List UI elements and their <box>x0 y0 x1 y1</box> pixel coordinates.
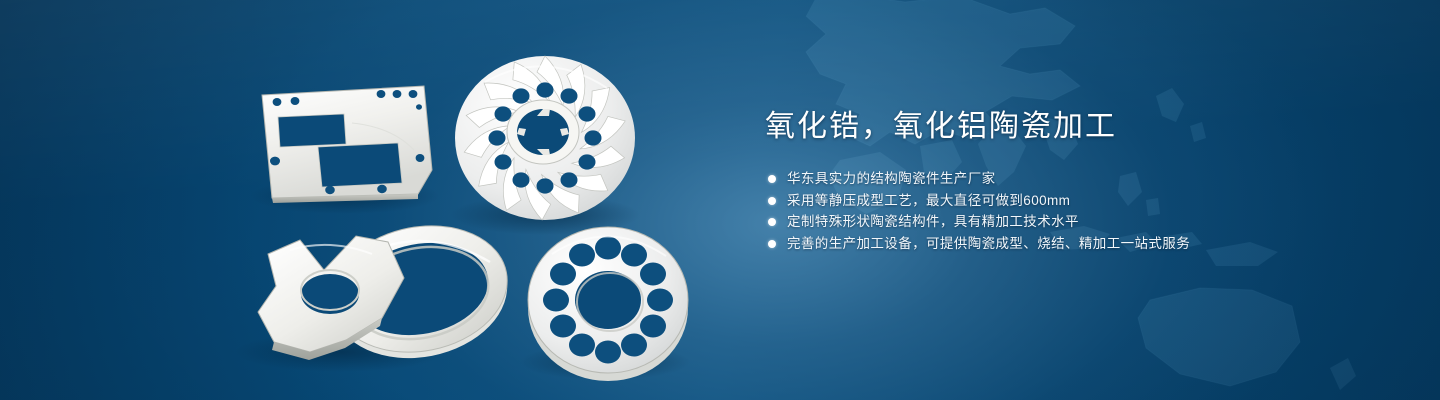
hero-banner: 氧化锆，氧化铝陶瓷加工 华东具实力的结构陶瓷件生产厂家 采用等静压成型工艺，最大… <box>0 0 1440 400</box>
list-item: 定制特殊形状陶瓷结构件，具有精加工技术水平 <box>765 211 1385 233</box>
banner-copy: 氧化锆，氧化铝陶瓷加工 华东具实力的结构陶瓷件生产厂家 采用等静压成型工艺，最大… <box>765 108 1385 254</box>
list-item-label: 定制特殊形状陶瓷结构件，具有精加工技术水平 <box>787 214 1079 229</box>
product-photo-group <box>0 0 760 400</box>
feature-list: 华东具实力的结构陶瓷件生产厂家 采用等静压成型工艺，最大直径可做到600mm 定… <box>765 168 1385 254</box>
list-item-label: 华东具实力的结构陶瓷件生产厂家 <box>787 171 996 186</box>
bullet-dot-icon <box>768 240 776 248</box>
list-item: 采用等静压成型工艺，最大直径可做到600mm <box>765 190 1385 212</box>
bullet-dot-icon <box>768 175 776 183</box>
page-title: 氧化锆，氧化铝陶瓷加工 <box>765 108 1385 146</box>
list-item-label: 完善的生产加工设备，可提供陶瓷成型、烧结、精加工一站式服务 <box>787 236 1190 251</box>
list-item: 华东具实力的结构陶瓷件生产厂家 <box>765 168 1385 190</box>
list-item-label: 采用等静压成型工艺，最大直径可做到600mm <box>787 193 1070 208</box>
bullet-dot-icon <box>768 218 776 226</box>
ceramic-impeller-disc <box>455 55 635 220</box>
bullet-dot-icon <box>768 197 776 205</box>
ceramic-perforated-disc <box>528 227 688 381</box>
ceramic-machined-plate <box>262 86 432 203</box>
list-item: 完善的生产加工设备，可提供陶瓷成型、烧结、精加工一站式服务 <box>765 233 1385 255</box>
